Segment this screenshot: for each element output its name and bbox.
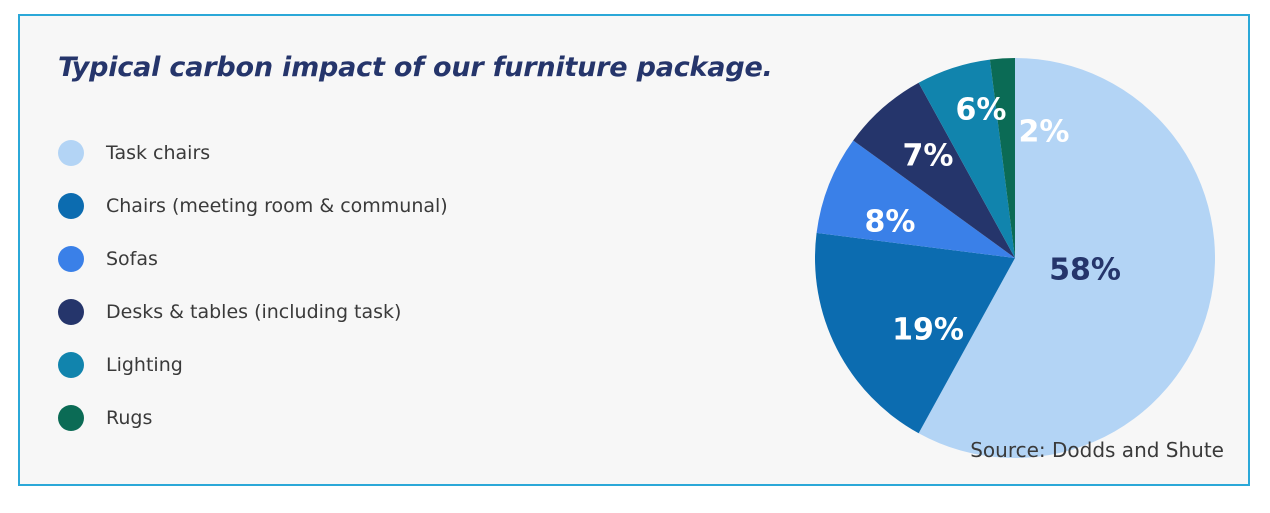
legend-item-label: Chairs (meeting room & communal) [106, 195, 448, 217]
legend-swatch-icon [58, 193, 84, 219]
legend-item-label: Rugs [106, 407, 152, 429]
legend-item[interactable]: Rugs [58, 391, 678, 444]
legend-item-label: Desks & tables (including task) [106, 301, 401, 323]
pie-slice-label: 6% [956, 93, 1007, 128]
pie-chart: 58%19%8%7%6%2% [795, 38, 1235, 478]
legend: Task chairsChairs (meeting room & commun… [58, 126, 678, 444]
legend-item[interactable]: Desks & tables (including task) [58, 285, 678, 338]
legend-item[interactable]: Chairs (meeting room & communal) [58, 179, 678, 232]
page-title: Typical carbon impact of our furniture p… [58, 52, 773, 83]
pie-slice-label: 2% [1019, 115, 1070, 150]
pie-chart-svg [795, 38, 1235, 478]
chart-card: Typical carbon impact of our furniture p… [18, 14, 1250, 486]
legend-item-label: Lighting [106, 354, 183, 376]
pie-slice-label: 7% [903, 139, 954, 174]
pie-slice-label: 58% [1049, 253, 1121, 288]
legend-item-label: Sofas [106, 248, 158, 270]
legend-item-label: Task chairs [106, 142, 210, 164]
legend-swatch-icon [58, 299, 84, 325]
pie-slice-label: 19% [892, 313, 964, 348]
legend-swatch-icon [58, 140, 84, 166]
legend-swatch-icon [58, 352, 84, 378]
legend-item[interactable]: Task chairs [58, 126, 678, 179]
legend-item[interactable]: Sofas [58, 232, 678, 285]
legend-item[interactable]: Lighting [58, 338, 678, 391]
pie-slice-label: 8% [865, 205, 916, 240]
legend-swatch-icon [58, 246, 84, 272]
legend-swatch-icon [58, 405, 84, 431]
source-note: Source: Dodds and Shute [970, 438, 1224, 462]
